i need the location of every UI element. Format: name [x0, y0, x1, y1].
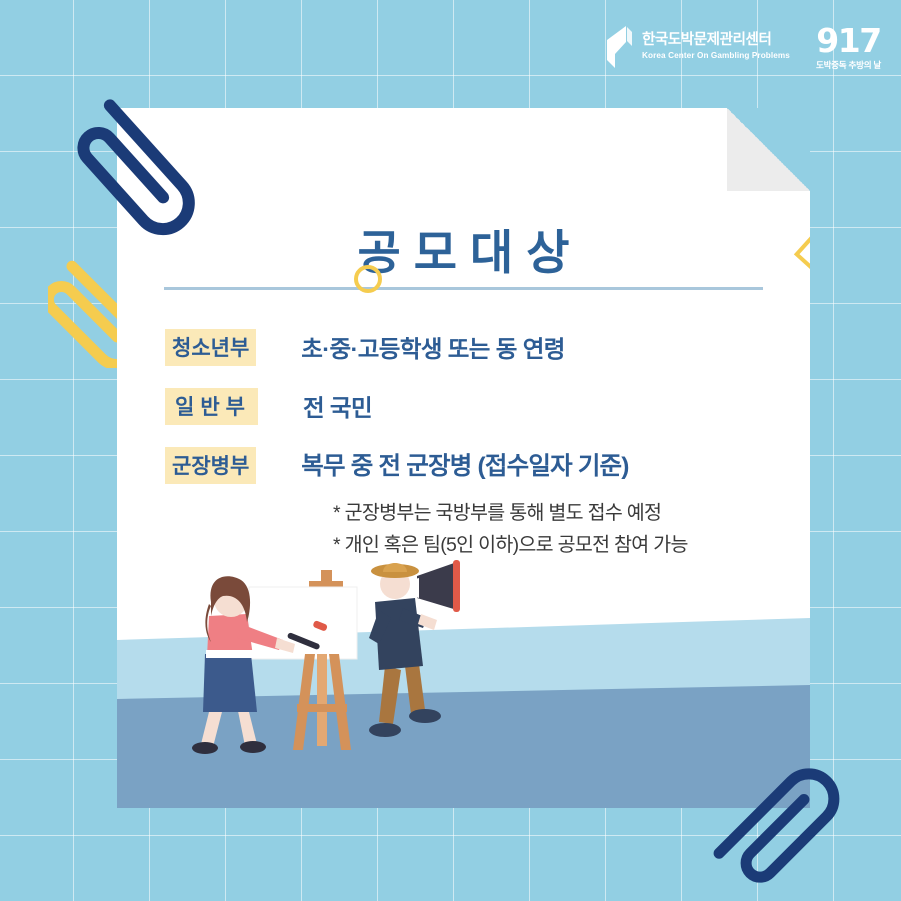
- people-illustration: [189, 554, 479, 774]
- page-fold-corner: [727, 108, 810, 191]
- note-line: * 군장병부는 국방부를 통해 별도 접수 예정: [333, 498, 688, 530]
- campaign-number: 917: [816, 24, 880, 57]
- category-row-general: 일반부 전 국민: [165, 388, 372, 425]
- header-logo-bar: 한국도박문제관리센터 Korea Center On Gambling Prob…: [605, 24, 881, 70]
- category-value-general: 전 국민: [303, 389, 372, 423]
- kcgp-logo: 한국도박문제관리센터 Korea Center On Gambling Prob…: [605, 25, 790, 69]
- campaign-917-logo: 917 도박중독 추방의 날: [816, 24, 881, 70]
- kcgp-name-en: Korea Center On Gambling Problems: [642, 52, 790, 61]
- paperclip-navy-bottom-icon: [688, 726, 853, 896]
- circle-outline-icon: [354, 265, 382, 293]
- notes-block: * 군장병부는 국방부를 통해 별도 접수 예정 * 개인 혹은 팀(5인 이하…: [333, 498, 688, 561]
- diamond-outline-icon: [799, 241, 810, 266]
- campaign-caption: 도박중독 추방의 날: [816, 61, 881, 70]
- kcgp-wordmark: 한국도박문제관리센터 Korea Center On Gambling Prob…: [642, 33, 790, 60]
- category-value-military: 복무 중 전 군장병 (접수일자 기준): [301, 447, 628, 482]
- category-row-youth: 청소년부 초·중·고등학생 또는 동 연령: [165, 329, 565, 366]
- category-row-military: 군장병부 복무 중 전 군장병 (접수일자 기준): [165, 447, 629, 484]
- category-label-youth: 청소년부: [165, 329, 256, 366]
- paperclip-navy-top-icon: [68, 76, 243, 256]
- category-label-military: 군장병부: [165, 447, 256, 484]
- category-value-youth: 초·중·고등학생 또는 동 연령: [301, 330, 564, 364]
- category-label-general: 일반부: [165, 388, 258, 425]
- title-divider: [164, 287, 763, 290]
- poster-canvas: 한국도박문제관리센터 Korea Center On Gambling Prob…: [0, 0, 901, 901]
- kcgp-flame-mark-icon: [605, 25, 633, 69]
- kcgp-name-kr: 한국도박문제관리센터: [642, 33, 790, 48]
